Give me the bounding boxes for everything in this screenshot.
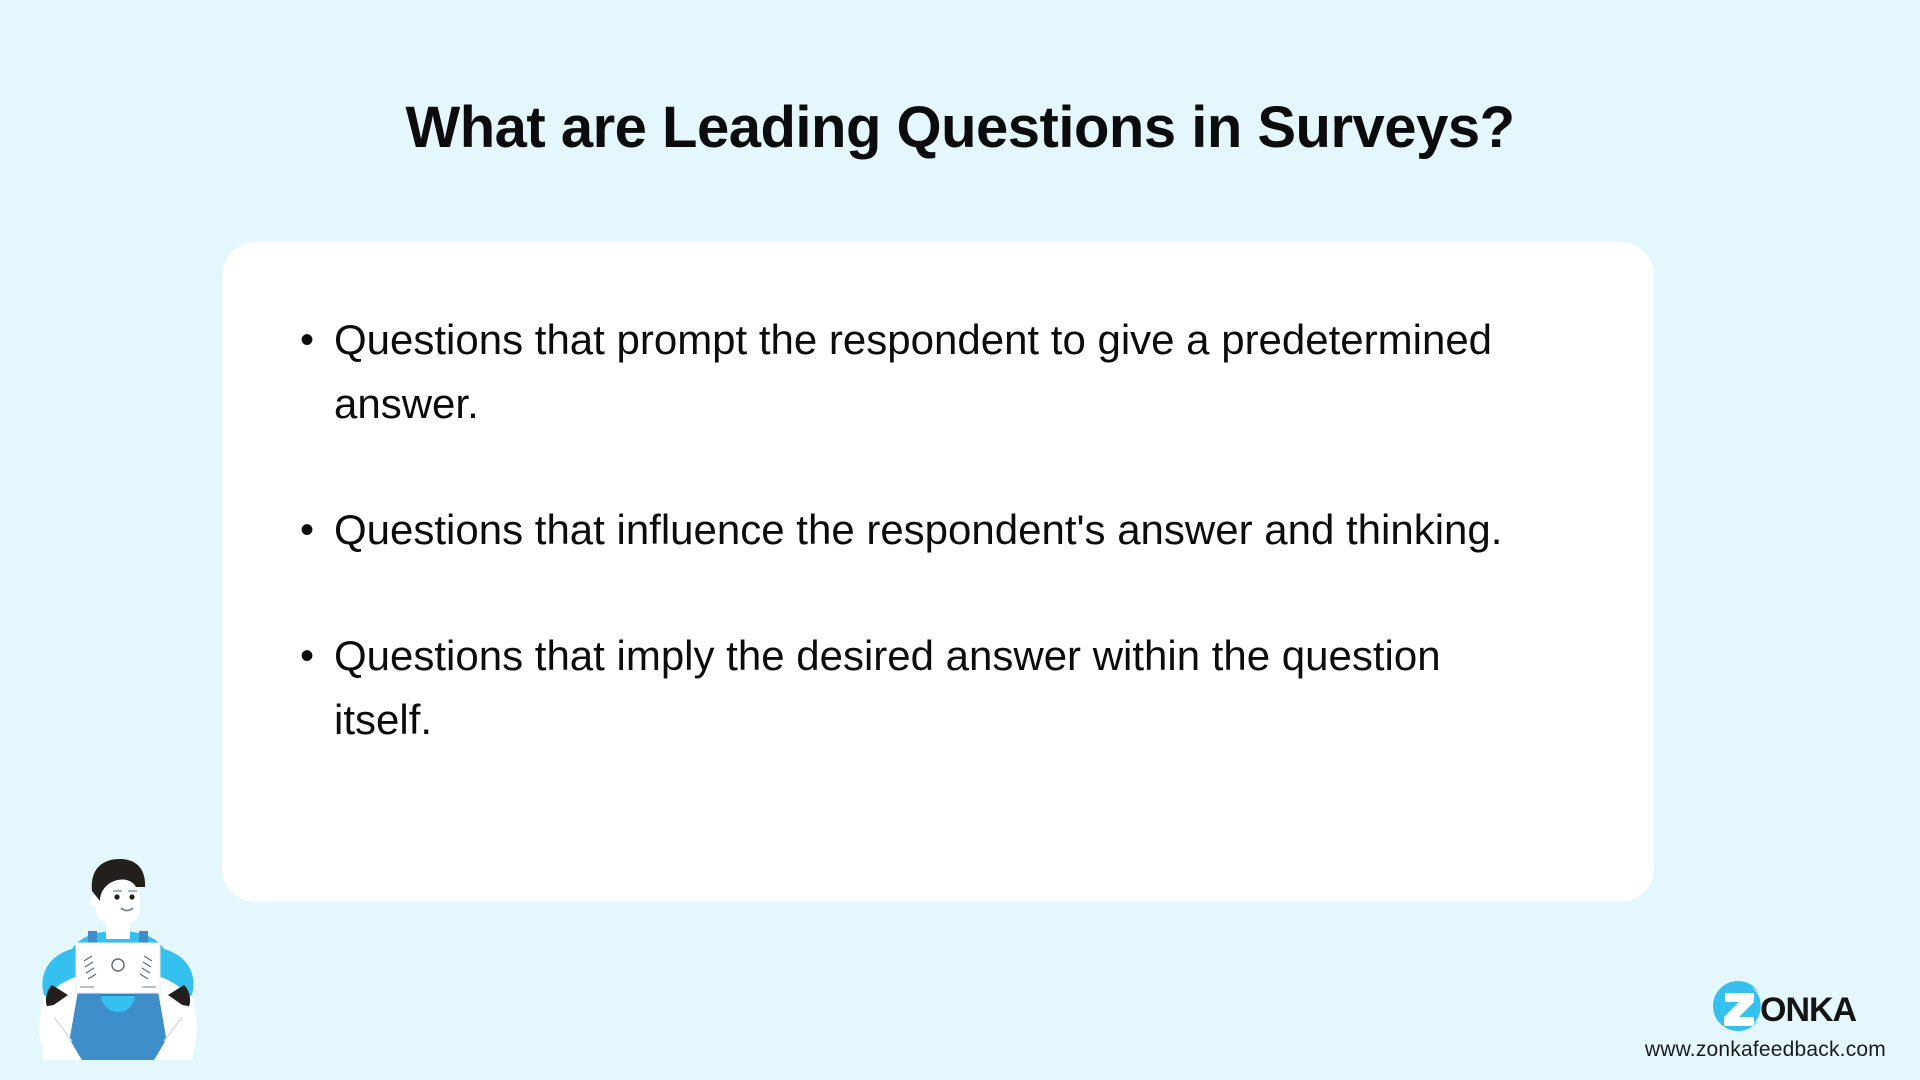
person-holding-survey-form-icon	[28, 845, 208, 1060]
list-item: • Questions that imply the desired answe…	[300, 624, 1594, 752]
brand-footer: ONKA www.zonkafeedback.com	[1645, 980, 1886, 1062]
svg-text:ONKA: ONKA	[1760, 991, 1857, 1029]
list-item-text: Questions that influence the respondent'…	[334, 498, 1524, 562]
bullet-list: • Questions that prompt the respondent t…	[300, 308, 1594, 752]
zonka-logo-icon[interactable]: ONKA	[1708, 980, 1886, 1032]
list-item-text: Questions that prompt the respondent to …	[334, 308, 1524, 436]
bullet-point-icon: •	[300, 624, 334, 688]
list-item: • Questions that prompt the respondent t…	[300, 308, 1594, 436]
bullet-point-icon: •	[300, 308, 334, 372]
page-title: What are Leading Questions in Surveys?	[0, 96, 1920, 160]
content-card: • Questions that prompt the respondent t…	[222, 242, 1654, 902]
person-illustration	[28, 845, 208, 1060]
list-item-text: Questions that imply the desired answer …	[334, 624, 1524, 752]
website-url[interactable]: www.zonkafeedback.com	[1645, 1038, 1886, 1062]
list-item: • Questions that influence the responden…	[300, 498, 1594, 562]
bullet-point-icon: •	[300, 498, 334, 562]
